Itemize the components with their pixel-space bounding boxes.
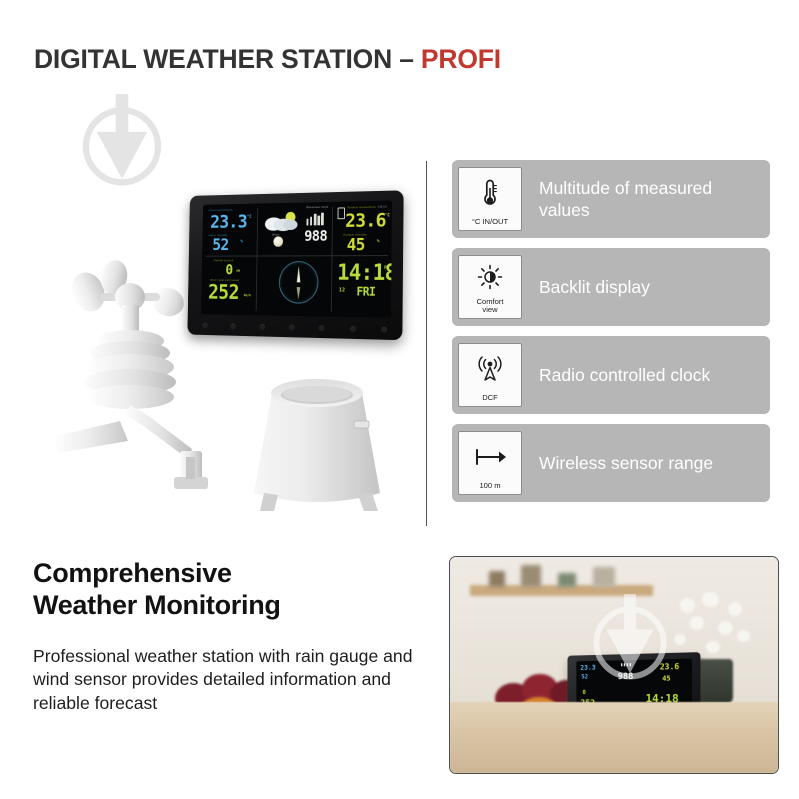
feature-tile-caption: °C IN/OUT bbox=[472, 218, 508, 230]
range-arrow-icon bbox=[473, 448, 507, 466]
feature-text: Radio controlled clock bbox=[539, 364, 718, 386]
lcd-clock-block: 14:18 PM 12 FRI bbox=[331, 256, 391, 318]
feature-text: Multitude of measured values bbox=[539, 177, 770, 221]
headline-line-1: Comprehensive bbox=[33, 558, 423, 590]
section-body-copy: Professional weather station with rain g… bbox=[33, 645, 418, 715]
cloud-sun-forecast-icon bbox=[262, 210, 301, 232]
outdoor-temp-value: 23.6 bbox=[345, 211, 386, 230]
wind-direction-compass bbox=[278, 262, 318, 305]
indoor-hum-value: 52 bbox=[212, 238, 229, 254]
photo-indoor-hum: 52 bbox=[581, 675, 588, 681]
wind-unit: km/h bbox=[244, 294, 251, 298]
console-button-5[interactable] bbox=[319, 325, 325, 331]
console-brand-label: EMOS bbox=[378, 205, 388, 209]
console-button-4[interactable] bbox=[289, 324, 294, 330]
feature-tile-caption: Comfort view bbox=[476, 298, 503, 318]
clock-weekday: FRI bbox=[356, 286, 375, 298]
thermometer-icon bbox=[480, 178, 500, 208]
sun-comfort-icon bbox=[477, 264, 503, 290]
radio-signal-icon bbox=[475, 356, 505, 382]
moon-phase-icon bbox=[273, 236, 283, 247]
clock-ampm: PM bbox=[384, 265, 389, 270]
console-lcd-screen: Indoor temperature 23.3 °C Indoor humidi… bbox=[201, 200, 392, 317]
console-button-1[interactable] bbox=[203, 322, 208, 328]
lcd-forecast-block: Moon Barometer trend 988 hPa bbox=[256, 202, 332, 256]
clock-date: 12 bbox=[339, 288, 345, 294]
feature-text: Backlit display bbox=[539, 276, 658, 298]
lcd-wind-compass-block bbox=[255, 256, 332, 317]
outdoor-hum-value: 45 bbox=[347, 237, 365, 254]
lcd-rain-wind-block: Rainfall amount 0 mm Wind / gust wind sp… bbox=[201, 256, 256, 315]
feature-tile-caption: 100 m bbox=[479, 482, 500, 494]
weather-station-console: Indoor temperature 23.3 °C Indoor humidi… bbox=[187, 190, 403, 340]
product-image-group: Indoor temperature 23.3 °C Indoor humidi… bbox=[20, 150, 420, 550]
rainfall-value: 0 bbox=[225, 264, 232, 278]
headline-line-2: Weather Monitoring bbox=[33, 590, 423, 622]
feature-item-sensor-range[interactable]: 100 m Wireless sensor range bbox=[452, 424, 770, 502]
pressure-value: 988 bbox=[304, 229, 327, 244]
pressure-label: Barometer trend bbox=[306, 205, 328, 209]
compass-needle-south bbox=[296, 287, 300, 300]
circle-arrow-watermark bbox=[588, 592, 672, 682]
section-headline: Comprehensive Weather Monitoring bbox=[33, 558, 423, 621]
feature-item-measured-values[interactable]: °C IN/OUT Multitude of measured values bbox=[452, 160, 770, 238]
feature-text: Wireless sensor range bbox=[539, 452, 721, 474]
pressure-history-bars bbox=[306, 212, 324, 226]
rainfall-unit: mm bbox=[236, 269, 240, 273]
feature-tile-caption: DCF bbox=[482, 394, 498, 406]
photo-shelf-objects bbox=[483, 563, 640, 587]
outdoor-temp-unit: °C bbox=[385, 213, 390, 218]
rain-gauge-image bbox=[232, 365, 402, 515]
console-button-2[interactable] bbox=[231, 323, 236, 329]
photo-table-surface bbox=[450, 702, 778, 773]
console-button-7[interactable] bbox=[381, 326, 387, 332]
indoor-temp-value: 23.3 bbox=[210, 213, 247, 231]
lcd-outdoor-block: Outdoor temperature 23.6 °C Outdoor humi… bbox=[332, 200, 392, 255]
console-button-3[interactable] bbox=[260, 324, 265, 330]
outdoor-hum-unit: % bbox=[377, 239, 380, 244]
lcd-indoor-block: Indoor temperature 23.3 °C Indoor humidi… bbox=[202, 204, 257, 257]
feature-tile-comfort-view: Comfort view bbox=[458, 255, 522, 319]
vertical-divider bbox=[426, 161, 427, 526]
feature-list: °C IN/OUT Multitude of measured values bbox=[452, 160, 770, 512]
indoor-temp-unit: °C bbox=[247, 215, 252, 220]
feature-item-backlit-display[interactable]: Comfort view Backlit display bbox=[452, 248, 770, 326]
page-title: DIGITAL WEATHER STATION – PROFI bbox=[34, 44, 501, 75]
battery-icon bbox=[338, 207, 346, 219]
compass-needle-north bbox=[296, 266, 300, 282]
outdoor-temp-label: Outdoor temperature bbox=[347, 205, 376, 210]
feature-item-radio-clock[interactable]: DCF Radio controlled clock bbox=[452, 336, 770, 414]
wind-speed-value: 252 bbox=[208, 283, 239, 303]
photo-rainfall: 0 bbox=[582, 690, 585, 696]
feature-tile-range: 100 m bbox=[458, 431, 522, 495]
feature-tile-temperature: °C IN/OUT bbox=[458, 167, 522, 231]
page-title-main: DIGITAL WEATHER STATION – bbox=[34, 44, 421, 74]
console-button-6[interactable] bbox=[350, 325, 356, 331]
page-title-accent: PROFI bbox=[421, 44, 501, 74]
lifestyle-photo: 23.3 52 ▮▮▮▮ 988 23.6 45 0 252 14:18 12 … bbox=[449, 556, 779, 774]
feature-tile-dcf: DCF bbox=[458, 343, 522, 407]
indoor-hum-unit: % bbox=[240, 240, 242, 245]
